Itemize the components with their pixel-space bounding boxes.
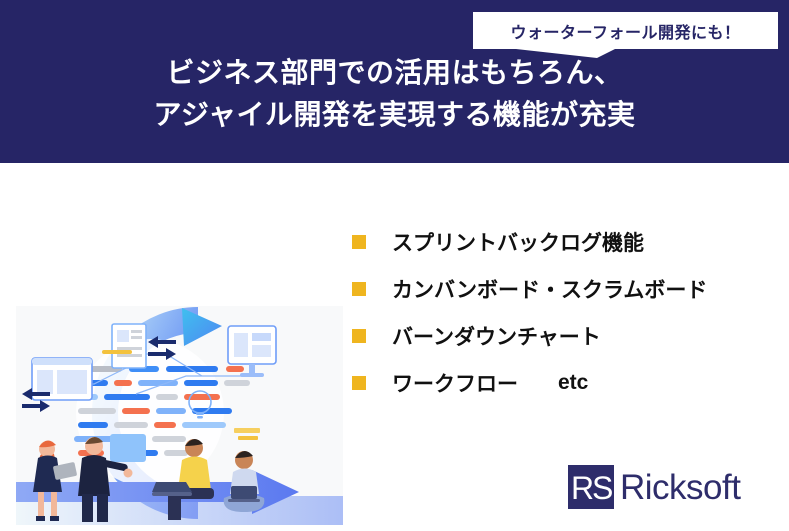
feature-label: バーンダウンチャート [392,321,601,351]
bullet-square-icon [352,329,366,343]
callout-ribbon-label: ウォーターフォール開発にも！ [473,12,778,49]
feature-list-item: バーンダウンチャート [352,312,772,359]
feature-list-item: スプリントバックログ機能 [352,218,772,265]
page-title-line-1: ビジネス部門での活用はもちろん、 [0,52,789,94]
logo-wordmark: Ricksoft [620,470,740,505]
chat-bubble-icon [110,434,146,462]
logo-mark-rs-icon: R S [568,465,614,509]
bullet-square-icon [352,235,366,249]
feature-label: カンバンボード・スクラムボード [392,274,707,304]
page-title: ビジネス部門での活用はもちろん、 アジャイル開発を実現する機能が充実 [0,52,789,136]
logo-mark-svg: R S [568,465,614,509]
svg-text:S: S [592,470,613,506]
page-title-line-2: アジャイル開発を実現する機能が充実 [0,94,789,136]
feature-list: スプリントバックログ機能 カンバンボード・スクラムボード バーンダウンチャート … [352,218,772,406]
agile-illustration-svg [16,306,343,525]
bullet-square-icon [352,282,366,296]
bullet-square-icon [352,376,366,390]
feature-list-item: ワークフロー etc [352,359,772,406]
ricksoft-logo: R S Ricksoft [568,465,740,509]
agile-illustration [16,306,343,525]
feature-label: スプリントバックログ機能 [392,227,644,257]
callout-ribbon: ウォーターフォール開発にも！ [473,12,778,58]
feature-label: ワークフロー [392,368,518,398]
svg-text:R: R [571,470,594,506]
document-card [112,324,146,368]
feature-label-suffix: etc [558,371,588,395]
feature-list-item: カンバンボード・スクラムボード [352,265,772,312]
